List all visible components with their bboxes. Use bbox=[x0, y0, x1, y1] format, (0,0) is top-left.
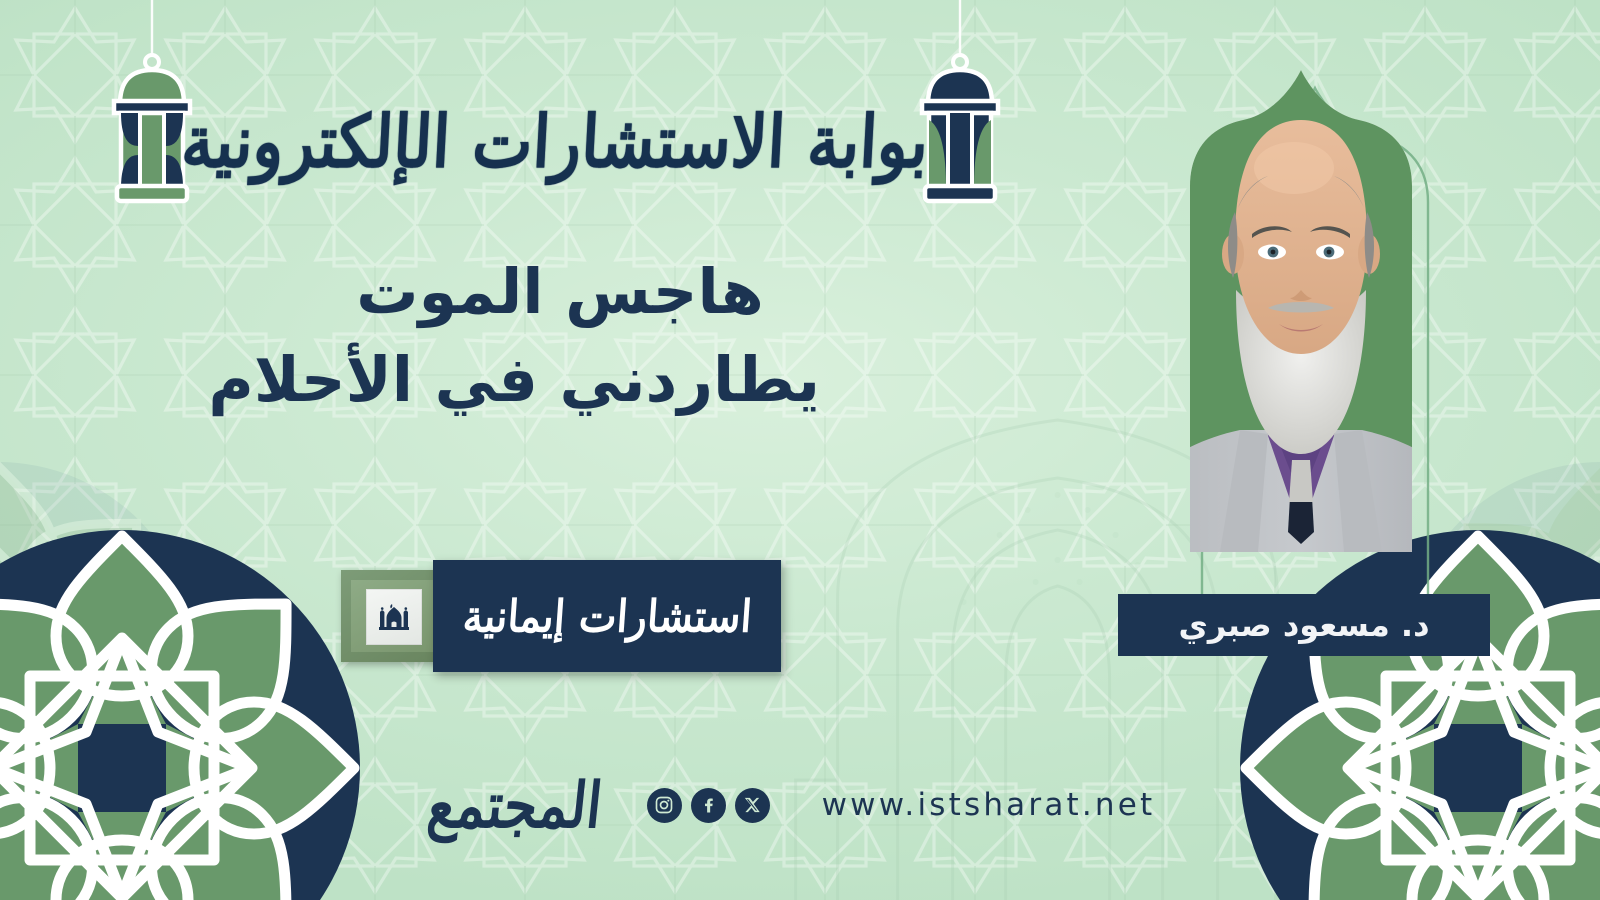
al-mujtama-brand-logo[interactable]: المجتمع bbox=[445, 757, 585, 853]
banner-canvas: بوابة الاستشارات الإلكترونية هاجس الموت … bbox=[0, 0, 1600, 900]
badge-navy-band: استشارات إيمانية bbox=[433, 560, 781, 672]
portal-logo-text: بوابة الاستشارات الإلكترونية bbox=[200, 52, 909, 231]
portal-logo-calligraphy: بوابة الاستشارات الإلكترونية bbox=[205, 62, 905, 222]
portrait-frame bbox=[1116, 62, 1486, 552]
mosque-icon bbox=[366, 589, 422, 645]
title-line-1: هاجس الموت bbox=[300, 248, 820, 336]
website-url[interactable]: www.istsharat.net bbox=[822, 787, 1156, 823]
social-links bbox=[647, 788, 770, 823]
title-line-2: يطاردني في الأحلام bbox=[300, 336, 820, 424]
page-title: هاجس الموت يطاردني في الأحلام bbox=[300, 248, 820, 424]
speaker-name: د. مسعود صبري bbox=[1179, 606, 1430, 644]
x-twitter-icon[interactable] bbox=[735, 788, 770, 823]
al-mujtama-brand-text: المجتمع bbox=[439, 749, 591, 860]
footer-bar: المجتمع www.istsharat.net bbox=[0, 755, 1600, 855]
category-badge[interactable]: استشارات إيمانية bbox=[341, 560, 781, 672]
speaker-nameplate: د. مسعود صبري bbox=[1118, 594, 1490, 656]
facebook-icon[interactable] bbox=[691, 788, 726, 823]
instagram-icon[interactable] bbox=[647, 788, 682, 823]
speaker-card: د. مسعود صبري bbox=[1116, 62, 1494, 624]
badge-label: استشارات إيمانية bbox=[461, 590, 753, 642]
